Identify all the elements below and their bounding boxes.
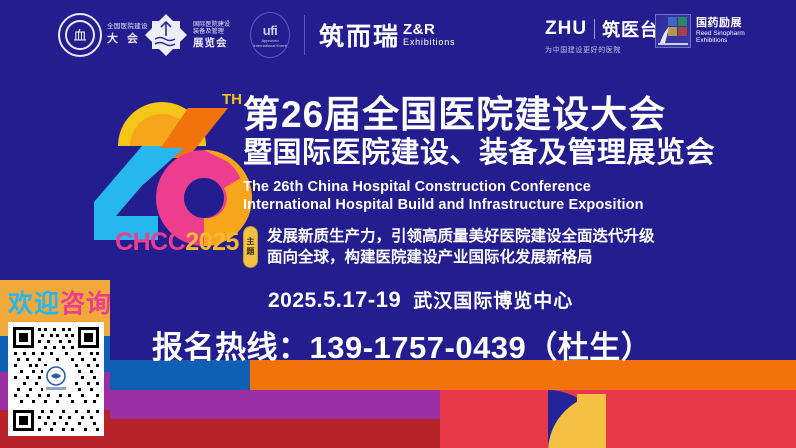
zr-english-sub: Exhibitions (403, 38, 455, 47)
reed-mark-icon (655, 14, 691, 48)
reed-english-2: Exhibitions (696, 37, 745, 44)
zhu-wordmark: ZHU (545, 18, 587, 40)
welcome-part-1: 欢迎 (8, 290, 60, 318)
logo-divider (304, 15, 305, 55)
logo1-line1: 全国医院建设 (107, 23, 148, 31)
sponsor-logo-bar: 血 全国医院建设 大 会 国际医院建设 装备及管理 展览会 (0, 0, 796, 70)
logo-reed-sinopharm: 国药励展 Reed Sinopharm Exhibitions (655, 14, 745, 48)
seal-inner-glyph: 血 (65, 20, 95, 50)
qr-code[interactable] (8, 322, 104, 436)
event-year: 2025. (268, 289, 323, 313)
welcome-part-2: 咨询 (60, 290, 112, 318)
event-venue: 武汉国际博览中心 (413, 286, 573, 313)
theme-badge-char-2: 题 (247, 247, 255, 257)
theme-badge-char-1: 主 (247, 237, 255, 247)
english-title-line-2: International Hospital Build and Infrast… (243, 196, 788, 215)
welcome-text: 欢迎咨询 (8, 292, 104, 317)
zhu-chinese-name: 筑医台 (602, 16, 659, 42)
reed-chinese-name: 国药励展 (696, 17, 745, 30)
ufi-mark: ufi (263, 23, 277, 38)
logo2-line3: 展览会 (193, 37, 230, 50)
theme-line-2: 面向全球，构建医院建设产业国际化发展新格局 (267, 247, 655, 268)
decorative-color-bands (0, 360, 796, 448)
title-line-2: 暨国际医院建设、装备及管理展览会 (243, 137, 788, 170)
logo-ufi-and-zr: ufi Approved International Event 筑而瑞 Z&R… (250, 12, 455, 58)
chcc-wordmark: CHCC2025 (92, 228, 262, 257)
zhu-tagline: 为中国建设更好的医院 (545, 45, 659, 55)
zhu-divider (594, 19, 595, 39)
event-promo-banner: 血 全国医院建设 大 会 国际医院建设 装备及管理 展览会 (0, 0, 796, 448)
decorative-rect-gold (577, 394, 606, 448)
ufi-badge-icon: ufi Approved International Event (250, 12, 290, 58)
reed-english-1: Reed Sinopharm (696, 30, 745, 37)
logo-zhu-yi-tai: ZHU 筑医台 为中国建设更好的医院 (545, 16, 659, 55)
logo2-line2: 装备及管理 (193, 28, 230, 35)
english-title-line-1: The 26th China Hospital Construction Con… (243, 178, 788, 197)
theme-badge-icon: 主 题 (243, 226, 258, 268)
conference-seal-icon: 血 (58, 13, 102, 57)
theme-line-1: 发展新质生产力，引领高质量美好医院建设全面迭代升级 (267, 226, 655, 247)
theme-block: 主 题 发展新质生产力，引领高质量美好医院建设全面迭代升级 面向全球，构建医院建… (243, 226, 655, 269)
event-dates: 5.17-19 (323, 287, 401, 313)
logo-national-conference: 血 全国医院建设 大 会 (58, 13, 148, 57)
qr-consult-block: 欢迎咨询 (8, 292, 104, 444)
svg-text:TH: TH (222, 91, 242, 108)
band-purple (110, 390, 440, 419)
logo-international-exhibition: 国际医院建设 装备及管理 展览会 (143, 12, 230, 58)
event-date-venue: 2025. 5.17-19 武汉国际博览中心 (268, 286, 573, 313)
ufi-sub: Approved International Event (251, 38, 289, 48)
title-line-1: 第26届全国医院建设大会 (243, 96, 788, 134)
chcc-year: 2025 (185, 228, 239, 256)
registration-hotline: 报名热线：139-1757-0439（杜生） (152, 322, 652, 367)
chcc-prefix: CHCC (115, 228, 185, 256)
main-title-block: 第26届全国医院建设大会 暨国际医院建设、装备及管理展览会 The 26th C… (243, 96, 788, 215)
snowflake-icon (143, 12, 189, 58)
zr-chinese-name: 筑而瑞 (319, 17, 400, 53)
logo1-line2: 大 会 (107, 33, 148, 47)
zr-english-main: Z&R (403, 22, 455, 38)
